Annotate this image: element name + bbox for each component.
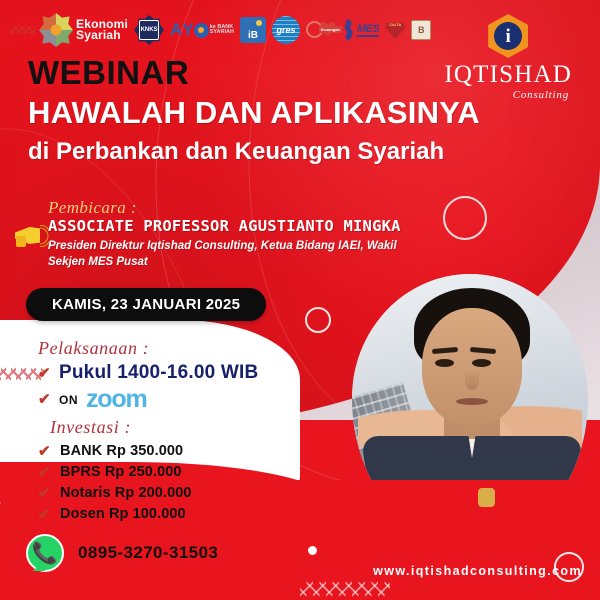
on-label: ON [59, 393, 78, 407]
investment-price: Dosen Rp 100.000 [60, 506, 186, 522]
investment-block: Investasi : ✔ BANK Rp 350.000 ✔ BPRS Rp … [38, 417, 192, 522]
ayo-ke-bank-syariah-logo: A Y ke BANK SYARIAH [170, 10, 234, 50]
headline-kicker: WEBINAR [28, 56, 528, 89]
check-icon: ✔ [38, 366, 51, 381]
ekonomi-syariah-mark-icon [39, 13, 73, 47]
headline-block: WEBINAR HAWALAH DAN APLIKASINYA di Perba… [28, 56, 528, 165]
whatsapp-contact[interactable]: 📞 0895-3270-31503 [26, 534, 218, 572]
partner-seal-logo: B [411, 20, 431, 40]
megaphone-icon [15, 222, 49, 250]
check-icon: ✔ [38, 444, 51, 459]
check-icon: ✔ [38, 465, 51, 480]
zigzag-decoration [300, 578, 390, 600]
mes-logo: MES [342, 10, 379, 50]
phone-number: 0895-3270-31503 [78, 543, 218, 563]
webinar-poster: Ekonomi Syariah KNKS A Y ke BANK SYARIAH… [0, 0, 600, 600]
ib-logo: iB [240, 17, 266, 43]
website-url[interactable]: www.iqtishadconsulting.com [373, 564, 582, 578]
ekonomi-syariah-logo: Ekonomi Syariah [10, 10, 128, 50]
speaker-block: Pembicara : ASSOCIATE PROFESSOR AGUSTIAN… [48, 198, 468, 270]
check-icon: ✔ [38, 507, 51, 522]
zigzag-icon [10, 22, 36, 38]
keuangan-syariah-heart-logo: Keuangan [306, 18, 336, 42]
investment-price: Notaris Rp 200.000 [60, 485, 192, 501]
investment-heading: Investasi : [38, 417, 192, 438]
mes-figure-icon [342, 19, 356, 41]
investment-price: BPRS Rp 250.000 [60, 464, 182, 480]
page-title: HAWALAH DAN APLIKASINYA [28, 96, 528, 131]
check-icon: ✔ [38, 486, 51, 501]
list-item: ✔ BPRS Rp 250.000 [38, 464, 192, 480]
list-item: ✔ BANK Rp 350.000 [38, 443, 192, 459]
investment-price: BANK Rp 350.000 [60, 443, 183, 459]
brand-initial: i [494, 22, 522, 50]
list-item: ✔ Notaris Rp 200.000 [38, 485, 192, 501]
list-item: ✔ Dosen Rp 100.000 [38, 506, 192, 522]
speaker-name: ASSOCIATE PROFESSOR AGUSTIANTO MINGKA [48, 218, 468, 235]
ayo-circle-icon [194, 23, 209, 38]
check-icon: ✔ [38, 392, 51, 407]
partner-logo-strip: Ekonomi Syariah KNKS A Y ke BANK SYARIAH… [10, 8, 431, 52]
speaker-kicker: Pembicara : [48, 198, 468, 218]
schedule-block: Pelaksanaan : ✔ Pukul 1400-16.00 WIB ✔ O… [38, 338, 258, 412]
schedule-platform-row: ✔ ON zoom [38, 387, 258, 412]
decorative-dot [308, 546, 317, 555]
speaker-title: Presiden Direktur Iqtishad Consulting, K… [48, 239, 403, 270]
whatsapp-icon[interactable]: 📞 [26, 534, 64, 572]
lapel-emblem-icon [478, 488, 495, 507]
gres-logo: gres [272, 16, 300, 44]
syariah-label: Syariah [76, 30, 128, 42]
cinta-produk-logo: CINTA [385, 21, 405, 39]
schedule-time-row: ✔ Pukul 1400-16.00 WIB [38, 362, 258, 384]
schedule-time: Pukul 1400-16.00 WIB [59, 362, 258, 384]
schedule-heading: Pelaksanaan : [38, 338, 258, 359]
hexagon-icon: i [488, 14, 528, 58]
headline-subtitle: di Perbankan dan Keuangan Syariah [28, 139, 528, 165]
date-badge: KAMIS, 23 JANUARI 2025 [26, 288, 266, 321]
knks-badge-logo: KNKS [134, 10, 164, 50]
zoom-logo: zoom [86, 387, 146, 412]
decorative-ring [305, 307, 331, 333]
